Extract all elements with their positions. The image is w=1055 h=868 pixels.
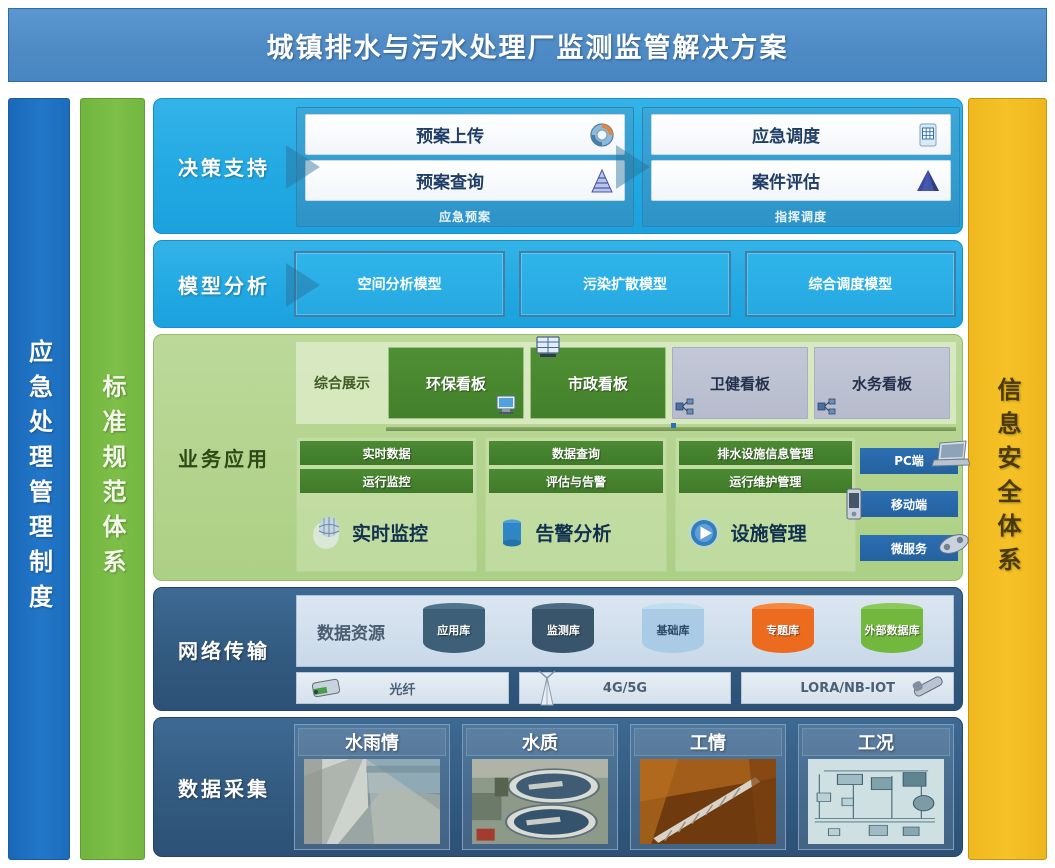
model-box-integrated-dispatch-label: 综合调度模型 (808, 274, 892, 294)
data-card-operating-condition[interactable]: 工况 (798, 724, 954, 850)
layer-decision-support: 决策支持 预案上传 (153, 98, 963, 234)
layer-business-application: 业务应用 综合展示 环保看板 (153, 334, 963, 581)
layer-data-body: 水雨情 (294, 718, 962, 856)
diagram-root: 城镇排水与污水处理厂监测监管解决方案 应急处理管理制度 标准规范体系 信息安全体… (0, 0, 1055, 868)
business-feature-realtime-monitoring-label: 实时监控 (352, 519, 428, 546)
business-chip-assessment-alarm[interactable]: 评估与告警 (489, 469, 662, 493)
laptop-icon (930, 439, 970, 471)
decision-arrow-middle (616, 145, 650, 189)
data-card-water-quality[interactable]: 水质 (462, 724, 618, 850)
device-chip-pc[interactable]: PC端 (860, 448, 958, 474)
business-column-monitoring: 实时数据 运行监控 (296, 437, 477, 572)
device-chip-microservice[interactable]: 微服务 (860, 535, 958, 561)
business-feature-facility-management-label: 设施管理 (731, 519, 807, 546)
model-box-integrated-dispatch[interactable]: 综合调度模型 (745, 251, 956, 317)
business-chip-realtime-data[interactable]: 实时数据 (300, 441, 473, 465)
play-circle-icon (685, 513, 725, 553)
model-box-spatial-analysis[interactable]: 空间分析模型 (294, 251, 505, 317)
business-chip-realtime-data-label: 实时数据 (363, 445, 411, 462)
data-card-engineering[interactable]: 工情 (630, 724, 786, 850)
network-link-list: 光纤 4G/5G (296, 672, 954, 704)
network-link-lora[interactable]: LORA/NB-IOT (741, 672, 954, 704)
layer-business-body: 综合展示 环保看板 市政看板 (294, 335, 962, 580)
decision-item-case-assessment-label: 案件评估 (652, 168, 950, 193)
board-tab-municipal[interactable]: 市政看板 (530, 347, 666, 419)
decision-item-plan-upload[interactable]: 预案上传 (305, 114, 625, 155)
page-title: 城镇排水与污水处理厂监测监管解决方案 (267, 26, 789, 65)
layer-model-analysis: 模型分析 空间分析模型 污染扩散模型 综合调度模型 (153, 240, 963, 328)
model-box-pollution-diffusion-label: 污染扩散模型 (583, 274, 667, 294)
database-monitoring[interactable]: 监测库 (532, 603, 594, 659)
data-card-operating-condition-label: 工况 (802, 728, 950, 756)
board-tabs-underline (386, 427, 956, 431)
fiber-cable-icon (307, 673, 347, 703)
board-tab-municipal-label: 市政看板 (568, 373, 628, 394)
database-application-label: 应用库 (435, 625, 472, 638)
comprehensive-display-title: 综合展示 (299, 345, 385, 421)
business-feature-realtime-monitoring[interactable]: 实时监控 (300, 497, 473, 568)
database-external[interactable]: 外部数据库 (861, 603, 923, 659)
decision-group-emergency-plan: 预案上传 预案查询 (296, 107, 634, 227)
board-tab-environment-label: 环保看板 (426, 373, 486, 394)
monitor-icon (495, 394, 517, 414)
board-tab-health[interactable]: 卫健看板 (672, 347, 808, 419)
decision-item-plan-upload-label: 预案上传 (306, 122, 624, 147)
data-card-engineering-label: 工情 (634, 728, 782, 756)
layer-decision-body: 预案上传 预案查询 (294, 99, 962, 233)
layer-decision-label: 决策支持 (154, 99, 294, 233)
window-icon (535, 336, 561, 360)
decision-item-plan-query-label: 预案查询 (306, 168, 624, 193)
network-link-fiber-label: 光纤 (389, 679, 415, 698)
side-panel-standard-specification: 标准规范体系 (80, 98, 145, 860)
network-node-icon (675, 398, 695, 416)
side-panel-standard-label: 标准规范体系 (95, 374, 130, 584)
mobile-phone-icon (844, 487, 864, 521)
layer-business-label: 业务应用 (154, 335, 294, 580)
data-resource-panel: 数据资源 应用库 监测库 (296, 595, 954, 667)
data-resource-title: 数据资源 (303, 619, 399, 644)
device-chip-microservice-label: 微服务 (891, 540, 927, 557)
business-column-alarm: 数据查询 评估与告警 (485, 437, 666, 572)
network-link-cellular[interactable]: 4G/5G (519, 672, 732, 704)
layer-model-label: 模型分析 (154, 241, 294, 327)
business-feature-facility-management[interactable]: 设施管理 (679, 497, 852, 568)
decision-item-emergency-dispatch[interactable]: 应急调度 (651, 114, 951, 155)
layer-data-collection: 数据采集 水雨情 (153, 717, 963, 857)
decision-item-plan-query[interactable]: 预案查询 (305, 160, 625, 201)
layer-model-body: 空间分析模型 污染扩散模型 综合调度模型 (294, 241, 962, 327)
business-device-list: PC端 移动端 (860, 439, 958, 570)
database-external-label: 外部数据库 (863, 625, 922, 638)
pyramid-light-icon (588, 167, 616, 195)
database-application[interactable]: 应用库 (423, 603, 485, 659)
business-chip-drainage-facility-info[interactable]: 排水设施信息管理 (679, 441, 852, 465)
business-chip-operation-monitoring-label: 运行监控 (363, 473, 411, 490)
side-panel-information-security: 信息安全体系 (968, 98, 1047, 860)
layer-network-transport: 网络传输 数据资源 应用库 监测库 (153, 587, 963, 711)
business-chip-data-query-label: 数据查询 (552, 445, 600, 462)
device-chip-mobile[interactable]: 移动端 (860, 491, 958, 517)
globe-icon (306, 513, 346, 553)
comprehensive-display-bar: 综合展示 环保看板 市政看板 (296, 342, 956, 424)
pipeline-trench-photo (640, 759, 776, 844)
sedimentation-tanks-photo (472, 759, 608, 844)
scada-schematic-photo (808, 759, 944, 844)
business-feature-alarm-analysis[interactable]: 告警分析 (489, 497, 662, 568)
antenna-tower-icon (534, 669, 560, 707)
business-chip-drainage-facility-info-label: 排水设施信息管理 (717, 445, 813, 462)
decision-group-command-dispatch-footer: 指挥调度 (651, 206, 951, 225)
model-box-pollution-diffusion[interactable]: 污染扩散模型 (519, 251, 730, 317)
decision-item-case-assessment[interactable]: 案件评估 (651, 160, 951, 201)
device-chip-pc-label: PC端 (894, 452, 924, 469)
network-link-fiber[interactable]: 光纤 (296, 672, 509, 704)
grid-table-icon (914, 121, 942, 149)
sensor-icon (909, 669, 949, 703)
refresh-cycle-icon (588, 121, 616, 149)
data-card-water-quality-label: 水质 (466, 728, 614, 756)
business-feature-alarm-analysis-label: 告警分析 (535, 519, 611, 546)
pyramid-dark-icon (914, 167, 942, 195)
business-column-facility: 排水设施信息管理 运行维护管理 (675, 437, 856, 572)
layer-data-label: 数据采集 (154, 718, 294, 856)
device-chip-mobile-label: 移动端 (891, 496, 927, 513)
network-link-cellular-label: 4G/5G (603, 681, 647, 696)
business-function-columns: 实时数据 运行监控 (296, 437, 856, 572)
database-basic-label: 基础库 (654, 625, 691, 638)
model-box-spatial-analysis-label: 空间分析模型 (358, 274, 442, 294)
side-panel-emergency-management: 应急处理管理制度 (8, 98, 70, 860)
board-tab-environment[interactable]: 环保看板 (388, 347, 524, 419)
database-thematic-label: 专题库 (764, 625, 801, 638)
database-thematic[interactable]: 专题库 (752, 603, 814, 659)
database-monitoring-label: 监测库 (545, 625, 582, 638)
data-collection-cards: 水雨情 (294, 718, 962, 856)
side-panel-emergency-label: 应急处理管理制度 (22, 339, 57, 619)
layer-stack: 决策支持 预案上传 (153, 98, 963, 860)
data-card-hydrology-label: 水雨情 (298, 728, 446, 756)
decision-group-emergency-plan-footer: 应急预案 (305, 206, 625, 225)
database-list: 应用库 监测库 基础库 (399, 603, 947, 659)
business-chip-data-query[interactable]: 数据查询 (489, 441, 662, 465)
network-link-lora-label: LORA/NB-IOT (800, 681, 895, 696)
device-icon (936, 529, 972, 559)
database-cylinder-icon (495, 513, 529, 553)
side-panel-security-label: 信息安全体系 (990, 377, 1025, 581)
board-tab-health-label: 卫健看板 (710, 373, 770, 394)
business-chip-maintenance-management[interactable]: 运行维护管理 (679, 469, 852, 493)
decision-group-command-dispatch: 应急调度 案件评 (642, 107, 960, 227)
business-chip-operation-monitoring[interactable]: 运行监控 (300, 469, 473, 493)
layer-network-label: 网络传输 (154, 588, 294, 710)
database-basic[interactable]: 基础库 (642, 603, 704, 659)
business-chip-assessment-alarm-label: 评估与告警 (546, 473, 606, 490)
river-embankment-photo (304, 759, 440, 844)
layer-network-body: 数据资源 应用库 监测库 (294, 588, 962, 710)
page-title-bar: 城镇排水与污水处理厂监测监管解决方案 (8, 8, 1047, 82)
decision-item-emergency-dispatch-label: 应急调度 (652, 122, 950, 147)
network-node-icon (817, 398, 837, 416)
board-tab-water-affairs[interactable]: 水务看板 (814, 347, 950, 419)
data-card-hydrology[interactable]: 水雨情 (294, 724, 450, 850)
business-chip-maintenance-management-label: 运行维护管理 (729, 473, 801, 490)
board-tab-water-affairs-label: 水务看板 (852, 373, 912, 394)
